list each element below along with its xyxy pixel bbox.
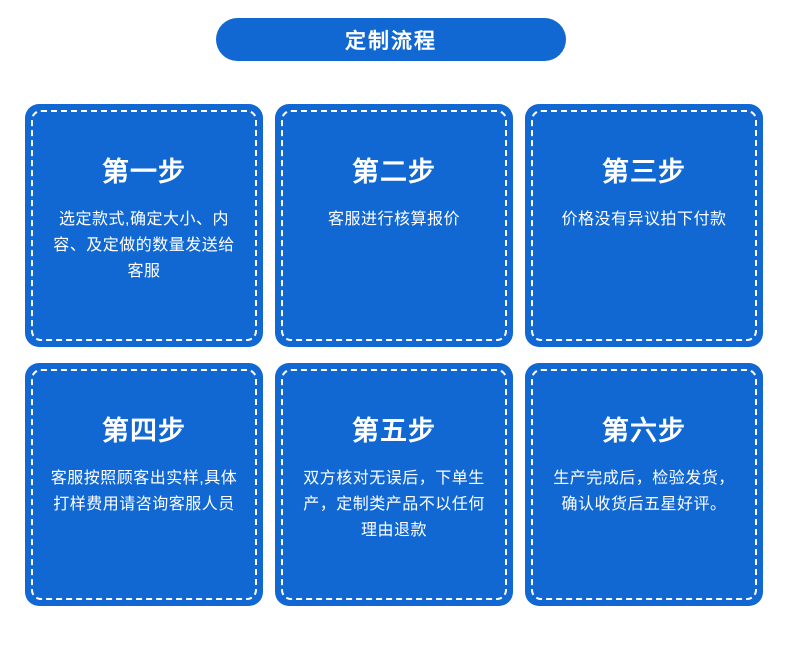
step-card-2-inner: 第二步 客服进行核算报价: [281, 110, 507, 341]
step-card-6-inner: 第六步 生产完成后，检验发货，确认收货后五星好评。: [531, 369, 757, 600]
custom-process-infographic: 定制流程 第一步 选定款式,确定大小、内容、及定做的数量发送给客服 第二步 客服…: [0, 0, 790, 662]
step-card-5-title: 第五步: [352, 409, 436, 448]
step-card-2: 第二步 客服进行核算报价: [275, 104, 513, 347]
page-title: 定制流程: [345, 25, 437, 55]
step-card-4-title: 第四步: [102, 409, 186, 448]
step-card-6-title: 第六步: [602, 409, 686, 448]
step-card-1: 第一步 选定款式,确定大小、内容、及定做的数量发送给客服: [25, 104, 263, 347]
step-card-5-inner: 第五步 双方核对无误后，下单生产，定制类产品不以任何理由退款: [281, 369, 507, 600]
step-card-5: 第五步 双方核对无误后，下单生产，定制类产品不以任何理由退款: [275, 363, 513, 606]
step-card-3-description: 价格没有异议拍下付款: [561, 207, 726, 233]
step-card-1-title: 第一步: [102, 150, 186, 189]
step-card-5-description: 双方核对无误后，下单生产，定制类产品不以任何理由退款: [299, 466, 489, 544]
step-card-4-description: 客服按照顾客出实样,具体打样费用请咨询客服人员: [49, 466, 239, 518]
step-card-4: 第四步 客服按照顾客出实样,具体打样费用请咨询客服人员: [25, 363, 263, 606]
step-card-1-description: 选定款式,确定大小、内容、及定做的数量发送给客服: [49, 207, 239, 285]
steps-grid: 第一步 选定款式,确定大小、内容、及定做的数量发送给客服 第二步 客服进行核算报…: [25, 104, 765, 606]
step-card-3-title: 第三步: [602, 150, 686, 189]
step-card-2-description: 客服进行核算报价: [328, 207, 460, 233]
step-card-2-title: 第二步: [352, 150, 436, 189]
process-title-banner: 定制流程: [216, 18, 566, 61]
step-card-4-inner: 第四步 客服按照顾客出实样,具体打样费用请咨询客服人员: [31, 369, 257, 600]
step-card-6-description: 生产完成后，检验发货，确认收货后五星好评。: [549, 466, 739, 518]
step-card-3-inner: 第三步 价格没有异议拍下付款: [531, 110, 757, 341]
step-card-3: 第三步 价格没有异议拍下付款: [525, 104, 763, 347]
step-card-6: 第六步 生产完成后，检验发货，确认收货后五星好评。: [525, 363, 763, 606]
step-card-1-inner: 第一步 选定款式,确定大小、内容、及定做的数量发送给客服: [31, 110, 257, 341]
